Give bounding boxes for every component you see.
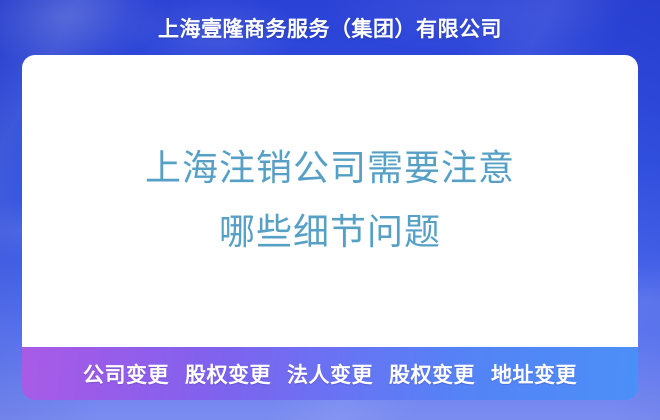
service-tags-list: 公司变更 股权变更 法人变更 股权变更 地址变更 bbox=[83, 359, 577, 389]
service-tag-legal-rep-change[interactable]: 法人变更 bbox=[287, 359, 373, 389]
company-name: 上海壹隆商务服务（集团）有限公司 bbox=[158, 13, 502, 43]
service-tag-equity-change-2[interactable]: 股权变更 bbox=[389, 359, 475, 389]
content-card: 上海注销公司需要注意 哪些细节问题 bbox=[22, 55, 638, 347]
service-tag-equity-change-1[interactable]: 股权变更 bbox=[185, 359, 271, 389]
poster-header: 上海壹隆商务服务（集团）有限公司 bbox=[0, 0, 660, 55]
page-title-line-2: 哪些细节问题 bbox=[145, 215, 515, 251]
page-title: 上海注销公司需要注意 哪些细节问题 bbox=[145, 151, 515, 251]
page-title-line-1: 上海注销公司需要注意 bbox=[145, 151, 515, 187]
service-tag-company-change[interactable]: 公司变更 bbox=[83, 359, 169, 389]
poster-canvas: 上海壹隆商务服务（集团）有限公司 上海注销公司需要注意 哪些细节问题 公司变更 … bbox=[0, 0, 660, 420]
service-tags-bar: 公司变更 股权变更 法人变更 股权变更 地址变更 bbox=[22, 347, 638, 400]
service-tag-address-change[interactable]: 地址变更 bbox=[491, 359, 577, 389]
